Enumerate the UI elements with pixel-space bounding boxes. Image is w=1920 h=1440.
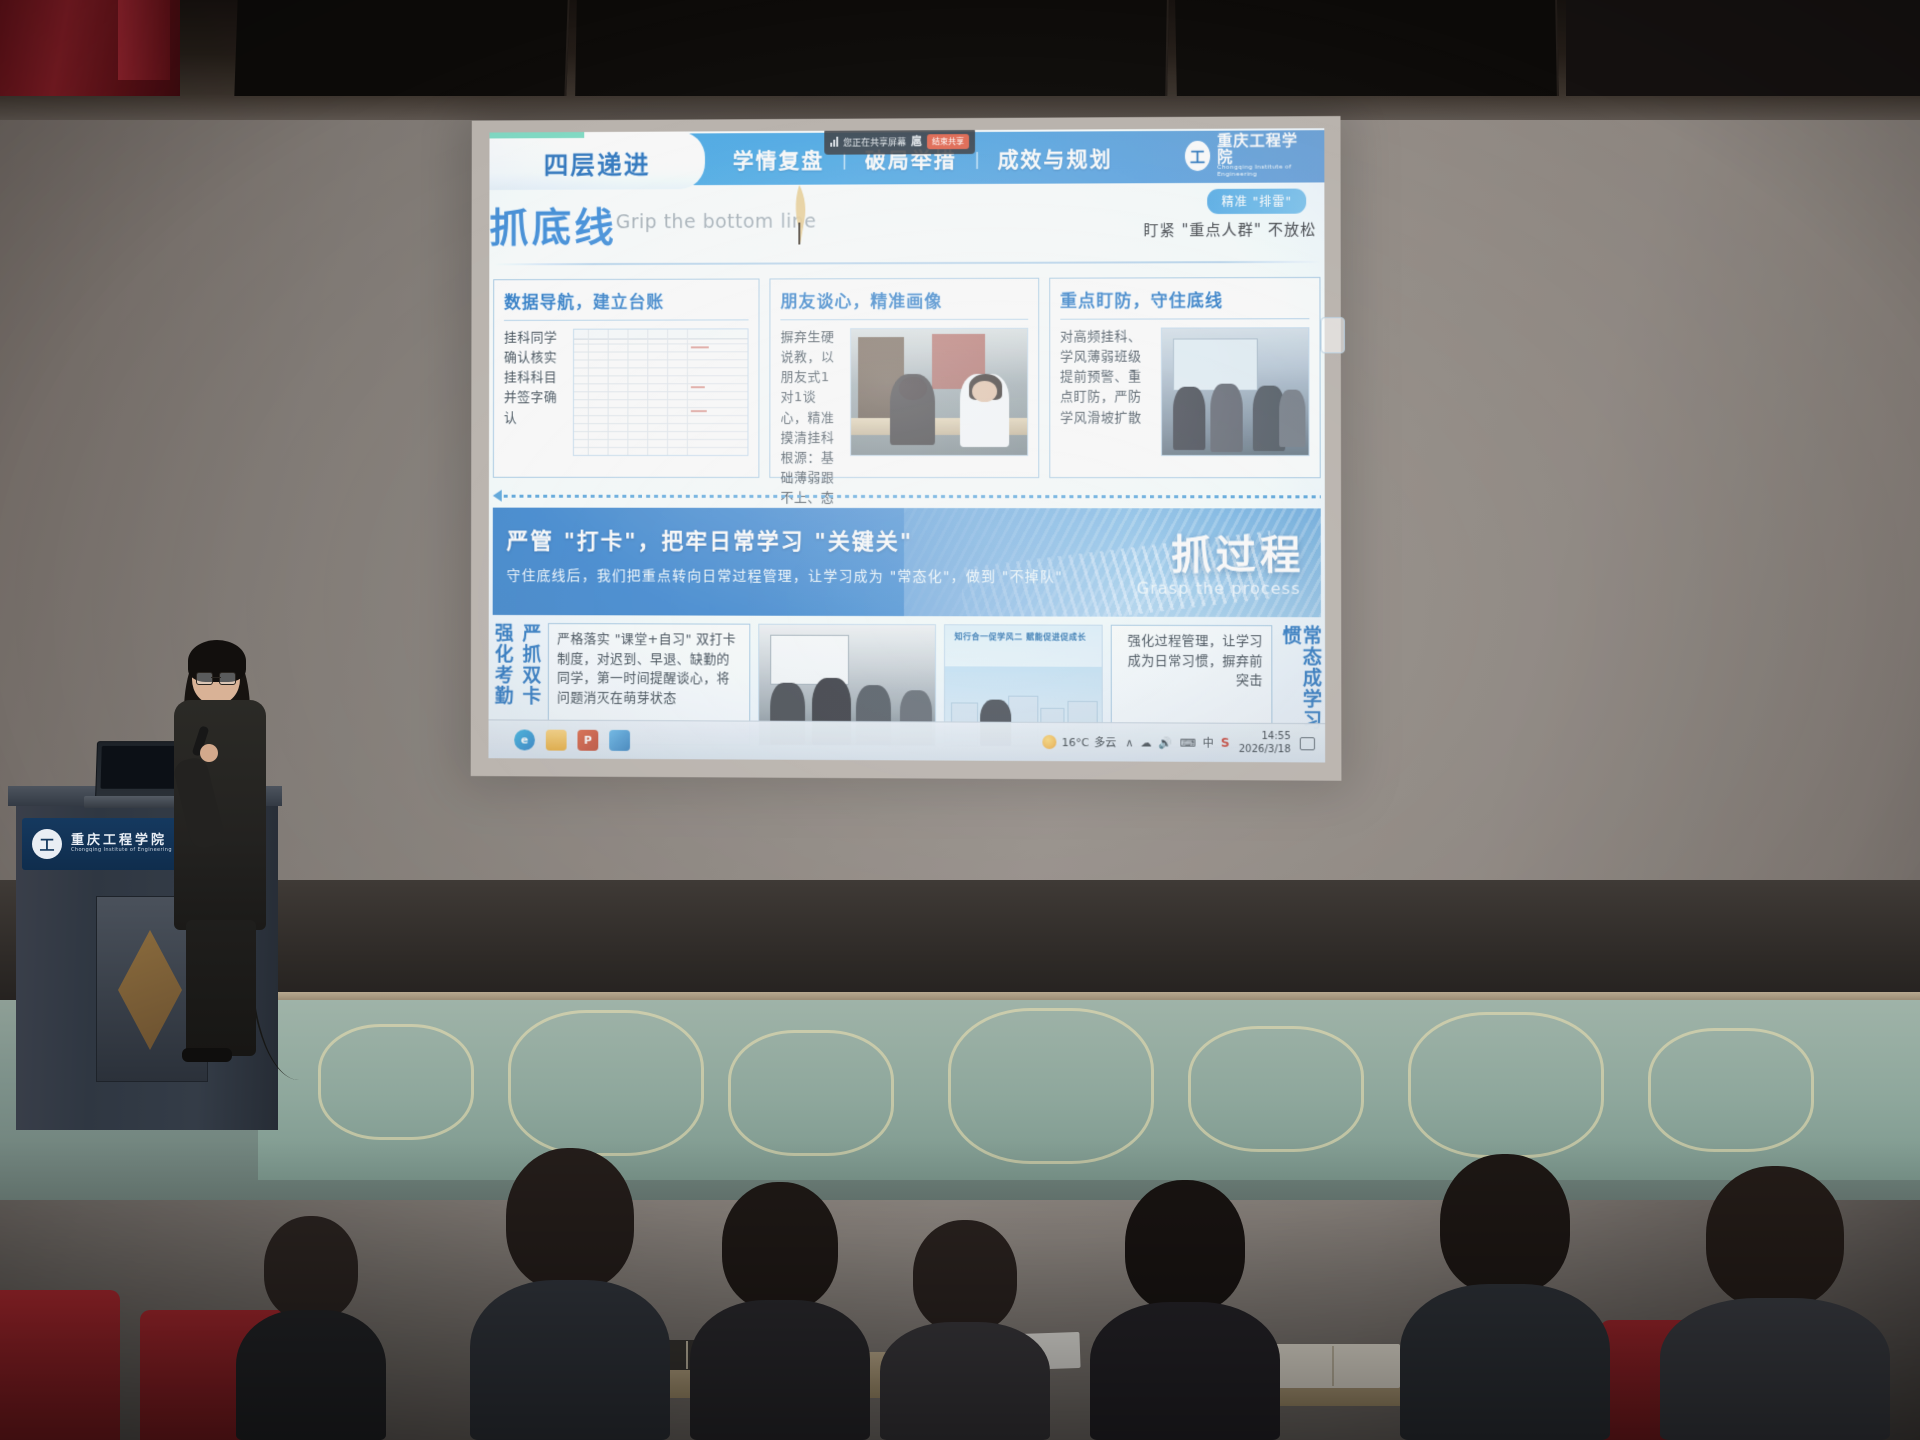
presenter-legs [186, 920, 256, 1056]
audience-member [1400, 1170, 1610, 1440]
presenter-glasses [196, 672, 236, 683]
auditorium-seat [0, 1290, 120, 1440]
audience-member [880, 1240, 1050, 1440]
audience [0, 1160, 1920, 1440]
audience-member [470, 1160, 670, 1440]
lectern-name-sub: Chongqing Institute of Engineering [71, 848, 172, 854]
lecture-hall-photo: 学情复盘 | 破局举措 | 成效与规划 工 重庆工程学院 Chongqing I… [0, 0, 1920, 1440]
audience-member [690, 1190, 870, 1440]
university-crest-icon: 工 [32, 829, 62, 859]
presenter-shoes [182, 1048, 232, 1062]
presenter [172, 648, 272, 1048]
audience-member [1660, 1190, 1890, 1440]
presenter-hand [200, 744, 218, 762]
audience-member [1090, 1200, 1280, 1440]
patterned-carpet [258, 1000, 1920, 1180]
lectern-name-text: 重庆工程学院 Chongqing Institute of Engineerin… [71, 834, 172, 854]
audience-member [236, 1230, 386, 1440]
open-notebook [1270, 1344, 1400, 1388]
